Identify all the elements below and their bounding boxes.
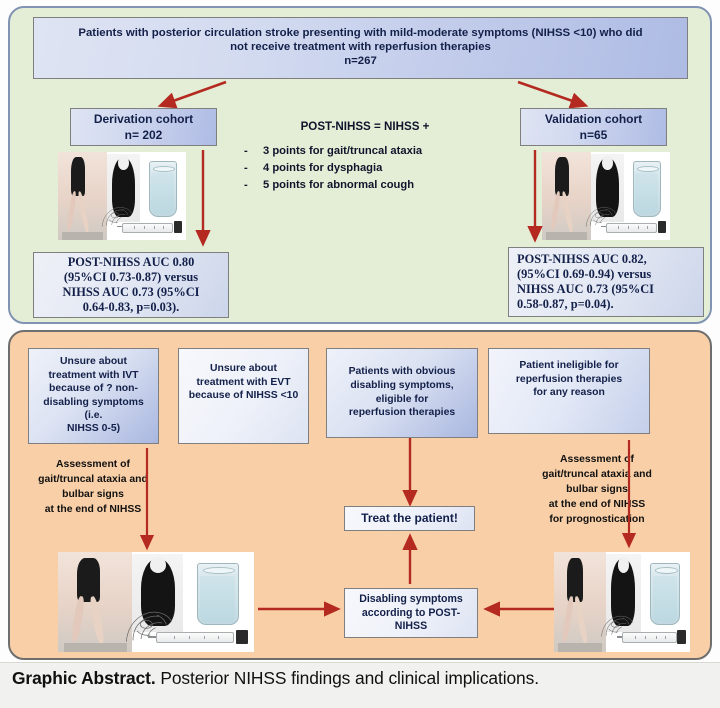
water-glass-photo [627, 156, 665, 219]
validation-cohort-n: n=65 [545, 128, 642, 143]
scenario-unsure-ivt-box: Unsure about treatment with IVT because … [28, 348, 159, 444]
glass-body [149, 161, 177, 216]
assessment-right-line-4: at the end of NIHSS [518, 497, 676, 512]
glass-rim [637, 166, 659, 172]
scenario-ivt-line-1: Unsure about [34, 356, 153, 369]
glass-body [633, 161, 661, 216]
formula-bullet-marker: - [244, 145, 250, 157]
assessment-right-line-5: for prognostication [518, 512, 676, 527]
study-population-box: Patients with posterior circulation stro… [33, 17, 688, 79]
glass-rim [203, 567, 235, 574]
syringe-plunger [658, 221, 666, 233]
syringe-photo [617, 626, 688, 648]
derivation-cohort-title: Derivation cohort [94, 112, 193, 127]
syringe-barrel [156, 632, 233, 643]
disabling-line-2: according to POST- [359, 607, 463, 620]
glass-water [653, 576, 677, 622]
syringe-photo [601, 217, 668, 236]
scenario-obvious-line-3: eligible for [349, 394, 456, 407]
formula-item-dysphagia-label: 4 points for dysphagia [263, 162, 382, 174]
formula-item-cough: - 5 points for abnormal cough [240, 179, 490, 191]
auc-validation-line-2: (95%CI 0.69-0.94) versus [517, 267, 651, 282]
auc-result-validation-box: POST-NIHSS AUC 0.82, (95%CI 0.69-0.94) v… [508, 247, 704, 317]
scenario-ivt-line-4: disabling symptoms (i.e. [34, 397, 153, 422]
syringe-plunger [236, 630, 248, 644]
formula-item-list: - 3 points for gait/truncal ataxia - 4 p… [240, 145, 490, 191]
arrow-right-scenario-to-collage [622, 440, 636, 550]
syringe-barrel [606, 223, 657, 233]
formula-bullet-marker: - [244, 179, 250, 191]
syringe-plunger [174, 221, 182, 233]
glass-rim [153, 166, 175, 172]
scenario-obvious-disabling-box: Patients with obvious disabling symptoms… [326, 348, 478, 438]
derivation-cohort-box: Derivation cohort n= 202 [70, 108, 217, 146]
scenario-evt-line-1: Unsure about [189, 363, 298, 376]
clinical-collage-bottom-left [58, 552, 254, 652]
validation-cohort-box: Validation cohort n=65 [520, 108, 667, 146]
scenario-ivt-line-3: because of ? non- [34, 383, 153, 396]
auc-derivation-line-2: (95%CI 0.73-0.87) versus [64, 270, 198, 285]
graphic-abstract-figure: Patients with posterior circulation stro… [0, 0, 720, 708]
scenario-ineligible-line-3: for any reason [516, 387, 622, 400]
arrow-obvious-to-treat [403, 438, 417, 508]
glass-water [200, 576, 235, 622]
formula-bullet-marker: - [244, 162, 250, 174]
water-glass-photo [143, 156, 181, 219]
auc-validation-line-4: 0.58-0.87, p=0.04). [517, 297, 614, 312]
auc-result-derivation-box: POST-NIHSS AUC 0.80 (95%CI 0.73-0.87) ve… [33, 252, 229, 318]
scenario-unsure-evt-box: Unsure about treatment with EVT because … [178, 348, 309, 444]
auc-validation-line-3: NIHSS AUC 0.73 (95%CI [517, 282, 654, 297]
glass-water [635, 173, 658, 213]
water-glass-photo [187, 557, 246, 629]
glass-body [197, 563, 239, 625]
caption-description: Posterior NIHSS findings and clinical im… [156, 668, 539, 688]
arrow-derivation-to-auc [196, 150, 210, 248]
auc-derivation-line-3: NIHSS AUC 0.73 (95%CI [62, 285, 199, 300]
population-sample-size: n=267 [344, 55, 377, 69]
disabling-line-3: NIHSS [359, 620, 463, 633]
formula-item-ataxia: - 3 points for gait/truncal ataxia [240, 145, 490, 157]
auc-derivation-line-1: POST-NIHSS AUC 0.80 [68, 255, 195, 270]
disabling-symptoms-post-nihss-box: Disabling symptoms according to POST- NI… [344, 588, 478, 638]
scenario-obvious-line-1: Patients with obvious [349, 366, 456, 379]
arrow-disabling-to-treat [403, 534, 417, 586]
caption-label: Graphic Abstract. [12, 668, 156, 688]
glass-body [650, 563, 680, 625]
syringe-plunger [677, 630, 685, 644]
scenario-obvious-line-2: disabling symptoms, [349, 380, 456, 393]
figure-caption: Graphic Abstract. Posterior NIHSS findin… [12, 668, 712, 689]
glass-rim [655, 567, 678, 574]
disabling-line-1: Disabling symptoms [359, 593, 463, 606]
syringe-barrel [122, 223, 173, 233]
formula-item-cough-label: 5 points for abnormal cough [263, 179, 414, 191]
assessment-text-right: Assessment of gait/truncal ataxia and bu… [518, 452, 676, 527]
treat-the-patient-box: Treat the patient! [344, 506, 475, 531]
formula-title: POST-NIHSS = NIHSS + [240, 120, 490, 133]
water-glass-photo [644, 557, 685, 629]
clinical-collage-validation [542, 152, 670, 240]
arrow-left-scenarios-to-collage [140, 448, 154, 552]
post-nihss-formula: POST-NIHSS = NIHSS + - 3 points for gait… [240, 120, 490, 196]
arrow-validation-to-auc [528, 150, 542, 244]
derivation-cohort-n: n= 202 [94, 128, 193, 143]
scenario-ineligible-line-2: reperfusion therapies [516, 374, 622, 387]
scenario-ivt-line-2: treatment with IVT [34, 370, 153, 383]
formula-item-dysphagia: - 4 points for dysphagia [240, 162, 490, 174]
scenario-evt-line-2: treatment with EVT [189, 377, 298, 390]
syringe-photo [148, 626, 250, 648]
syringe-photo [117, 217, 184, 236]
scenario-ivt-line-5: NIHSS 0-5) [34, 423, 153, 436]
population-line-1: Patients with posterior circulation stro… [78, 27, 642, 41]
clinical-collage-bottom-right [554, 552, 690, 652]
glass-water [151, 173, 174, 213]
scenario-evt-line-3: because of NIHSS <10 [189, 390, 298, 403]
syringe-barrel [622, 632, 676, 643]
auc-derivation-line-4: 0.64-0.83, p=0.03). [83, 300, 180, 315]
population-line-2: not receive treatment with reperfusion t… [230, 41, 491, 55]
auc-validation-line-1: POST-NIHSS AUC 0.82, [517, 252, 647, 267]
assessment-right-line-3: bulbar signs [518, 482, 676, 497]
clinical-collage-derivation [58, 152, 186, 240]
scenario-obvious-line-4: reperfusion therapies [349, 407, 456, 420]
assessment-right-line-2: gait/truncal ataxia and [518, 467, 676, 482]
arrow-left-collage-to-disabling [258, 602, 342, 616]
validation-cohort-title: Validation cohort [545, 112, 642, 127]
scenario-ineligible-line-1: Patient ineligible for [516, 360, 622, 373]
assessment-right-line-1: Assessment of [518, 452, 676, 467]
treat-the-patient-label: Treat the patient! [361, 511, 458, 526]
scenario-ineligible-box: Patient ineligible for reperfusion thera… [488, 348, 650, 434]
formula-item-ataxia-label: 3 points for gait/truncal ataxia [263, 145, 422, 157]
